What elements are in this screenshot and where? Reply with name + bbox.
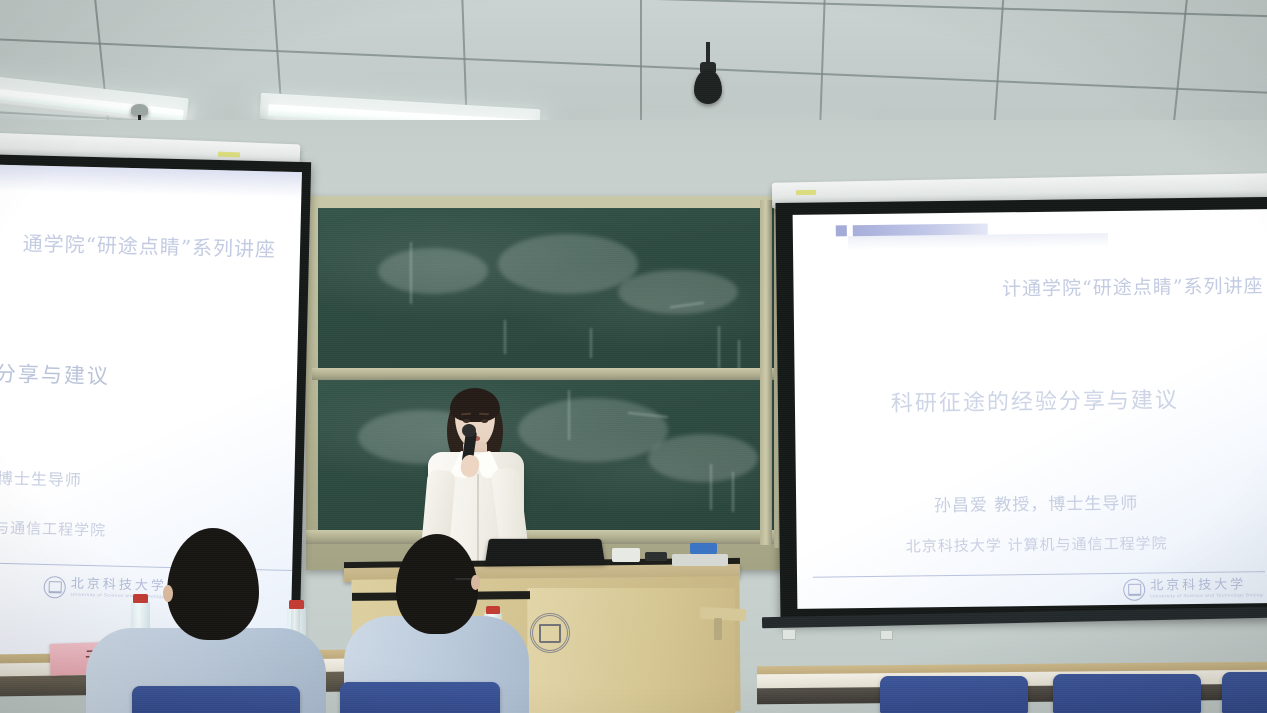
auditorium-chair[interactable]: [340, 682, 500, 713]
chalkboard-lower-panel: [318, 380, 776, 532]
ceiling-sensor-icon: [131, 104, 148, 115]
slide-series-header-left: 通学院“研途点睛”系列讲座: [0, 226, 276, 263]
presenter-shirt-placket: [477, 474, 479, 564]
slide-title-left: 验分享与建议: [0, 356, 161, 392]
podium-white-item: [612, 548, 640, 562]
slide-affiliation-left: 机与通信工程学院: [0, 515, 177, 543]
bottle-cap: [486, 606, 500, 614]
audience-ear: [471, 575, 480, 590]
slide-presenter-left: 博士生导师: [0, 463, 165, 493]
wall-outlet: [880, 630, 893, 640]
podium-monitor: [485, 539, 605, 564]
slide-presenter-right: 孙昌爱 教授，博士生导师: [856, 488, 1216, 517]
presenter-eye: [481, 419, 488, 423]
podium-grey-item: [672, 554, 728, 566]
auditorium-chair[interactable]: [1222, 672, 1267, 713]
podium-university-seal-icon: [530, 613, 570, 653]
auditorium-chair[interactable]: [132, 686, 300, 713]
auditorium-chair[interactable]: [880, 676, 1028, 713]
presenter-eye: [463, 419, 470, 423]
slide-accent-fade: [848, 233, 1108, 250]
university-logo-en-right: University of Science and Technology Bei…: [1150, 594, 1263, 600]
podium-blue-item: [690, 543, 717, 554]
slide-series-header-right: 计通学院“研途点睛”系列讲座: [933, 271, 1263, 302]
slide-affiliation-right: 北京科技大学 计算机与通信工程学院: [837, 532, 1237, 558]
slide-title-right: 科研征途的经验分享与建议: [855, 382, 1215, 418]
chalkboard-upper-panel: [318, 208, 776, 371]
university-seal-icon: [43, 576, 66, 599]
housing-badge-right: [796, 190, 816, 195]
audience-ear: [163, 585, 173, 602]
slide-divider-right: [813, 571, 1265, 578]
slide-logo-right: 北京科技大学 University of Science and Technol…: [1123, 577, 1263, 601]
podium-side-bracket: [714, 618, 722, 640]
microphone-head-icon: [462, 424, 476, 437]
chalkboard-mullion: [760, 200, 772, 545]
podium-dark-item: [645, 552, 667, 561]
housing-badge-left: [218, 152, 240, 158]
bottle-cap: [133, 594, 148, 603]
chalkboard-middle-rail: [312, 368, 782, 380]
projection-screen-right: 计通学院“研途点睛”系列讲座 科研征途的经验分享与建议 孙昌爱 教授，博士生导师…: [793, 209, 1267, 609]
university-seal-icon: [1123, 579, 1145, 601]
university-logo-cn-right: 北京科技大学: [1150, 578, 1263, 592]
bottle-cap: [289, 600, 304, 609]
presenter-hair: [450, 388, 500, 422]
slide-accent-square: [836, 225, 847, 236]
podium-side-shelf: [700, 607, 747, 621]
lecture-hall-photo: 通学院“研途点睛”系列讲座 验分享与建议 博士生导师 机与通信工程学院 北京科技…: [0, 0, 1267, 713]
wall-outlet: [782, 629, 796, 640]
ceiling-projector-icon: [694, 70, 722, 104]
auditorium-chair[interactable]: [1053, 674, 1201, 713]
